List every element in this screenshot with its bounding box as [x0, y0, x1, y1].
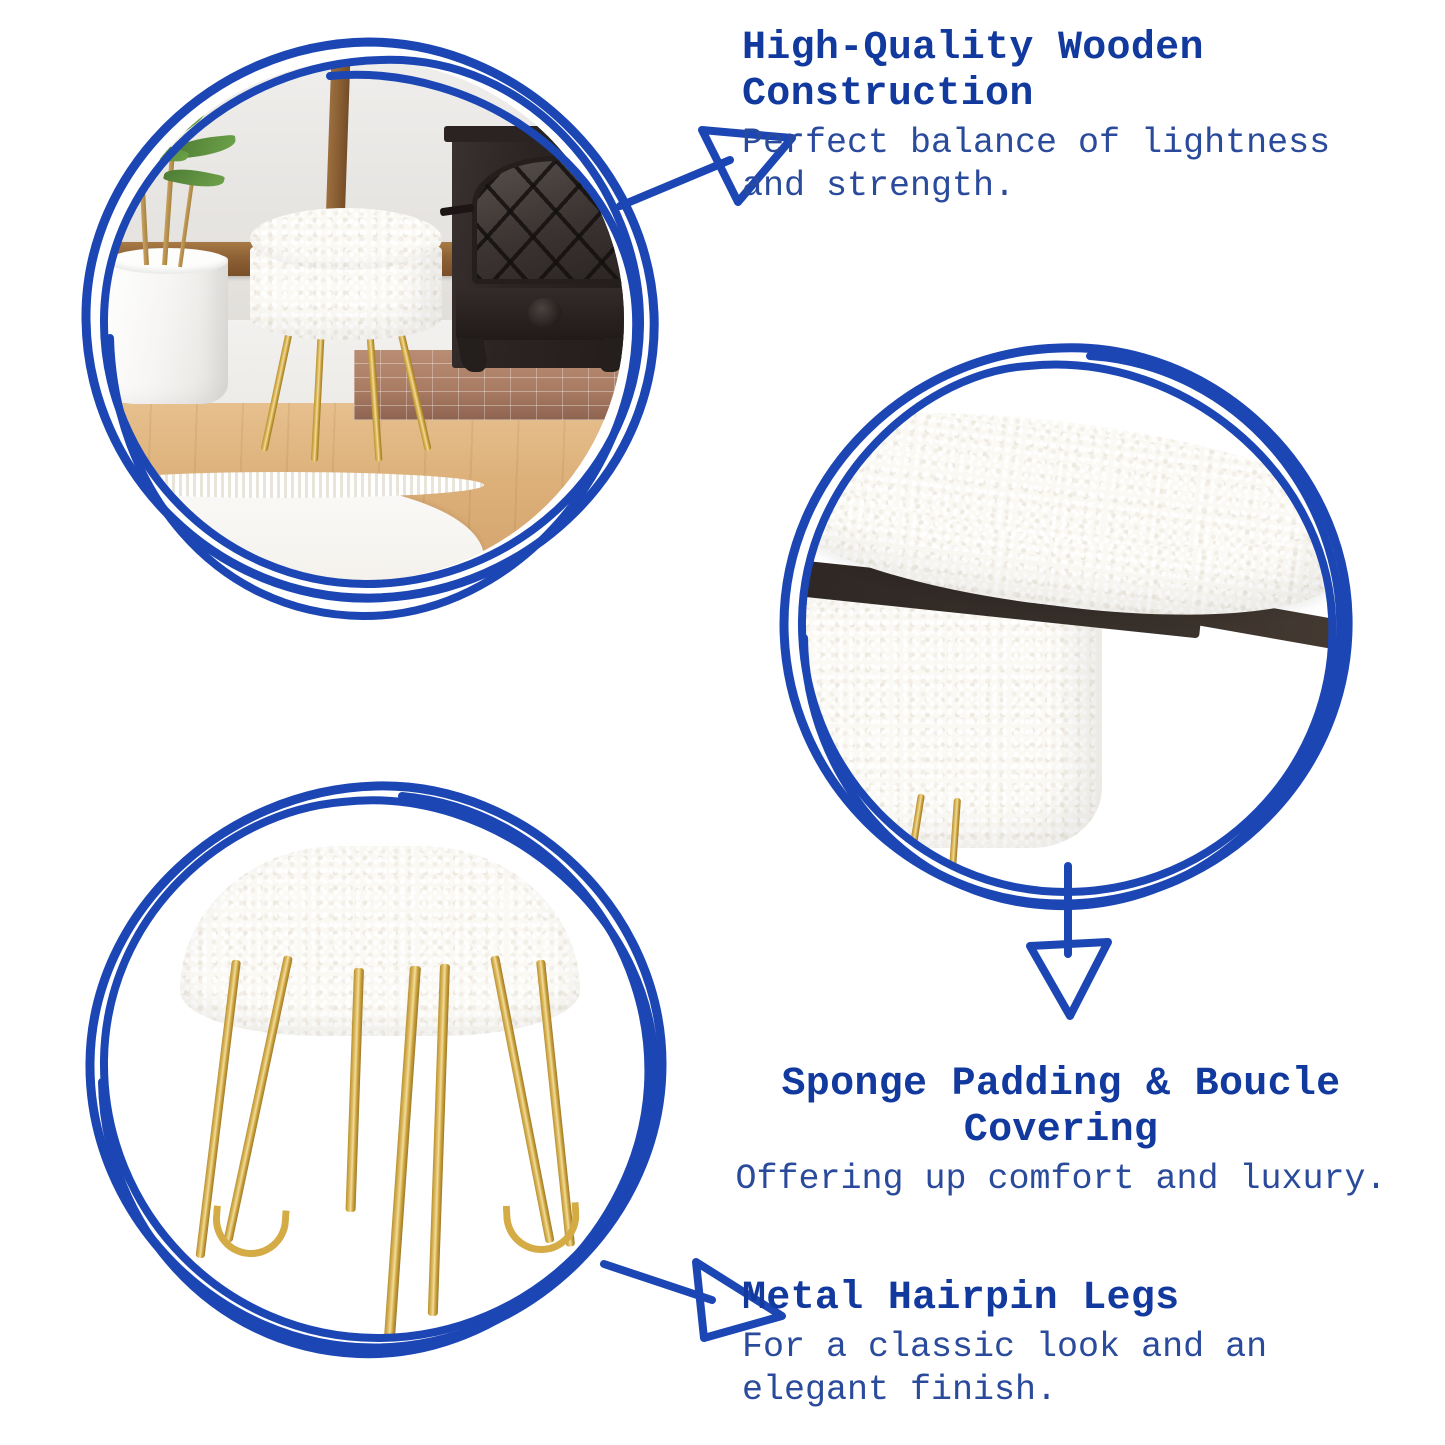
feature-body: For a classic look and an elegant finish…: [742, 1326, 1362, 1411]
stool-drum: [802, 598, 1102, 848]
lid-open-photo: [802, 362, 1332, 892]
feature-text-wooden-construction: High-Quality Wooden Construction Perfect…: [742, 26, 1362, 207]
plant-pot-rim: [108, 248, 228, 274]
stool-lid: [250, 208, 442, 270]
feature-heading: Metal Hairpin Legs: [742, 1276, 1362, 1322]
stove-knob: [528, 298, 562, 328]
feature-image-hairpin-legs: [58, 762, 698, 1422]
feature-image-sponge-padding: [760, 320, 1380, 980]
feature-body: Perfect balance of lightness and strengt…: [742, 122, 1362, 207]
feature-heading: Sponge Padding & Boucle Covering: [716, 1062, 1406, 1154]
room-scene: [104, 60, 624, 580]
hairpin-legs-scene: [104, 808, 644, 1348]
stove-top-plate: [444, 126, 624, 142]
lid-open-scene: [802, 362, 1332, 892]
hairpin-leg-bend: [503, 1202, 581, 1255]
arrow-down-icon: [1006, 860, 1146, 1040]
feature-text-hairpin-legs: Metal Hairpin Legs For a classic look an…: [742, 1276, 1362, 1411]
hairpin-leg-bend: [210, 1205, 289, 1259]
feature-heading: High-Quality Wooden Construction: [742, 26, 1362, 118]
stove-leg: [597, 338, 624, 372]
stool-seat-underside: [180, 846, 580, 1036]
feature-text-sponge-padding: Sponge Padding & Boucle Covering Offerin…: [716, 1062, 1406, 1201]
feature-image-wooden-construction: [62, 18, 682, 678]
room-scene-photo: [104, 60, 624, 580]
hairpin-legs-photo: [104, 808, 644, 1348]
plant-pot: [108, 256, 228, 404]
infographic-page: High-Quality Wooden Construction Perfect…: [0, 0, 1445, 1445]
feature-body: Offering up comfort and luxury.: [716, 1158, 1406, 1201]
